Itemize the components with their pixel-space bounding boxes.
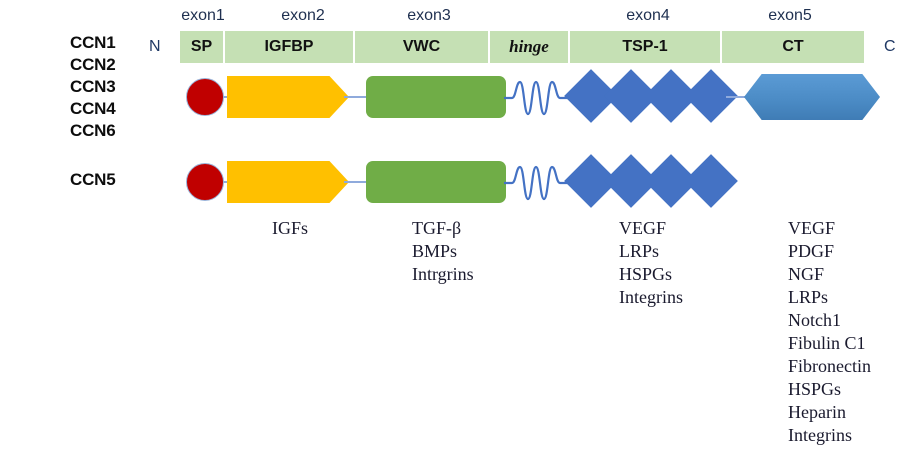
ligand-item: Fibronectin bbox=[788, 355, 871, 378]
ligand-item: VEGF bbox=[619, 217, 683, 240]
tsp1-ligand-list: VEGF LRPs HSPGs Integrins bbox=[619, 217, 683, 309]
ccn-domain-diagram: CCN1 CCN2 CCN3 CCN4 CCN6 CCN5 N C exon1 … bbox=[0, 0, 922, 457]
ligand-item: LRPs bbox=[788, 286, 871, 309]
ligand-item: VEGF bbox=[788, 217, 871, 240]
ligand-item: Integrins bbox=[788, 424, 871, 447]
ligand-item: HSPGs bbox=[788, 378, 871, 401]
ligand-item: Fibulin C1 bbox=[788, 332, 871, 355]
ct-ligand-list: VEGF PDGF NGF LRPs Notch1 Fibulin C1 Fib… bbox=[788, 217, 871, 447]
ligand-item: TGF-β bbox=[412, 217, 474, 240]
ligand-item: NGF bbox=[788, 263, 871, 286]
ligand-item: BMPs bbox=[412, 240, 474, 263]
ligand-item: PDGF bbox=[788, 240, 871, 263]
ccn5-schematic bbox=[0, 85, 922, 205]
vwc-ligand-list: TGF-β BMPs Intrgrins bbox=[412, 217, 474, 286]
ligand-item: Integrins bbox=[619, 286, 683, 309]
tsp1-repeat-diamond bbox=[684, 154, 738, 208]
ligand-item: IGFs bbox=[272, 217, 308, 240]
ligand-item: LRPs bbox=[619, 240, 683, 263]
igfbp-domain-arrow bbox=[227, 161, 349, 203]
ligand-item: Notch1 bbox=[788, 309, 871, 332]
igfbp-ligand-list: IGFs bbox=[272, 217, 308, 240]
signal-peptide-circle bbox=[186, 163, 224, 201]
ligand-item: HSPGs bbox=[619, 263, 683, 286]
vwc-domain-box bbox=[366, 161, 506, 203]
ligand-item: Heparin bbox=[788, 401, 871, 424]
ligand-item: Intrgrins bbox=[412, 263, 474, 286]
